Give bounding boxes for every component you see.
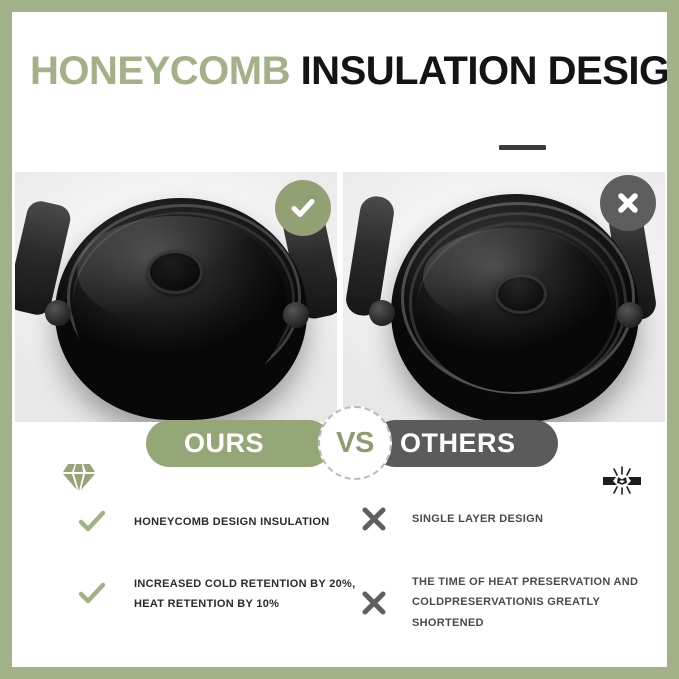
others-pill: OTHERS [372,420,558,467]
feature-text: HONEYCOMB DESIGN INSULATION [134,512,330,532]
feature-line: HEAT RETENTION BY 10% [134,598,279,610]
feature-line: THE TIME OF HEAT PRESERVATION AND [412,576,638,588]
broken-bar-icon [602,464,642,501]
check-badge-icon [275,180,331,236]
feature-text: INCREASED COLD RETENTION BY 20%, HEAT RE… [134,574,355,615]
feature-row-ours-2: INCREASED COLD RETENTION BY 20%, HEAT RE… [72,574,355,615]
feature-line: COLDPRESERVATIONIS GREATLY SHORTENED [412,596,600,628]
vs-badge: VS [318,406,392,480]
vs-label: VS [336,427,374,460]
check-icon [72,582,112,606]
check-icon [72,510,112,534]
cross-badge-icon [600,175,656,231]
title-highlight: HONEYCOMB [30,49,290,93]
others-label: OTHERS [400,428,516,459]
container-knob [147,250,203,294]
cross-icon [354,506,394,532]
feature-row-others-1: SINGLE LAYER DESIGN [354,506,543,532]
handle-hinge [369,300,395,326]
feature-line: SINGLE LAYER DESIGN [412,513,543,525]
handle-hinge [45,300,71,326]
infographic-frame: HONEYCOMB INSULATION DESIGN [0,0,679,679]
container-lid [73,214,287,400]
feature-line: HONEYCOMB DESIGN INSULATION [134,516,330,528]
feature-row-ours-1: HONEYCOMB DESIGN INSULATION [72,510,330,534]
ours-pill: OURS [146,420,332,467]
feature-row-others-2: THE TIME OF HEAT PRESERVATION AND COLDPR… [354,572,667,633]
handle-hinge [283,302,309,328]
feature-text: THE TIME OF HEAT PRESERVATION AND COLDPR… [412,572,667,633]
title-rest: INSULATION DESIGN [290,49,667,93]
feature-line: INCREASED COLD RETENTION BY 20%, [134,578,355,590]
cross-icon [354,590,394,616]
diamond-icon [62,462,96,497]
page-title: HONEYCOMB INSULATION DESIGN [30,50,655,92]
ours-label: OURS [184,428,264,459]
dash-mark-icon [499,145,546,150]
handle-hinge [617,302,643,328]
feature-text: SINGLE LAYER DESIGN [412,509,543,529]
infographic-canvas: HONEYCOMB INSULATION DESIGN [12,12,667,667]
container-knob [495,274,547,314]
